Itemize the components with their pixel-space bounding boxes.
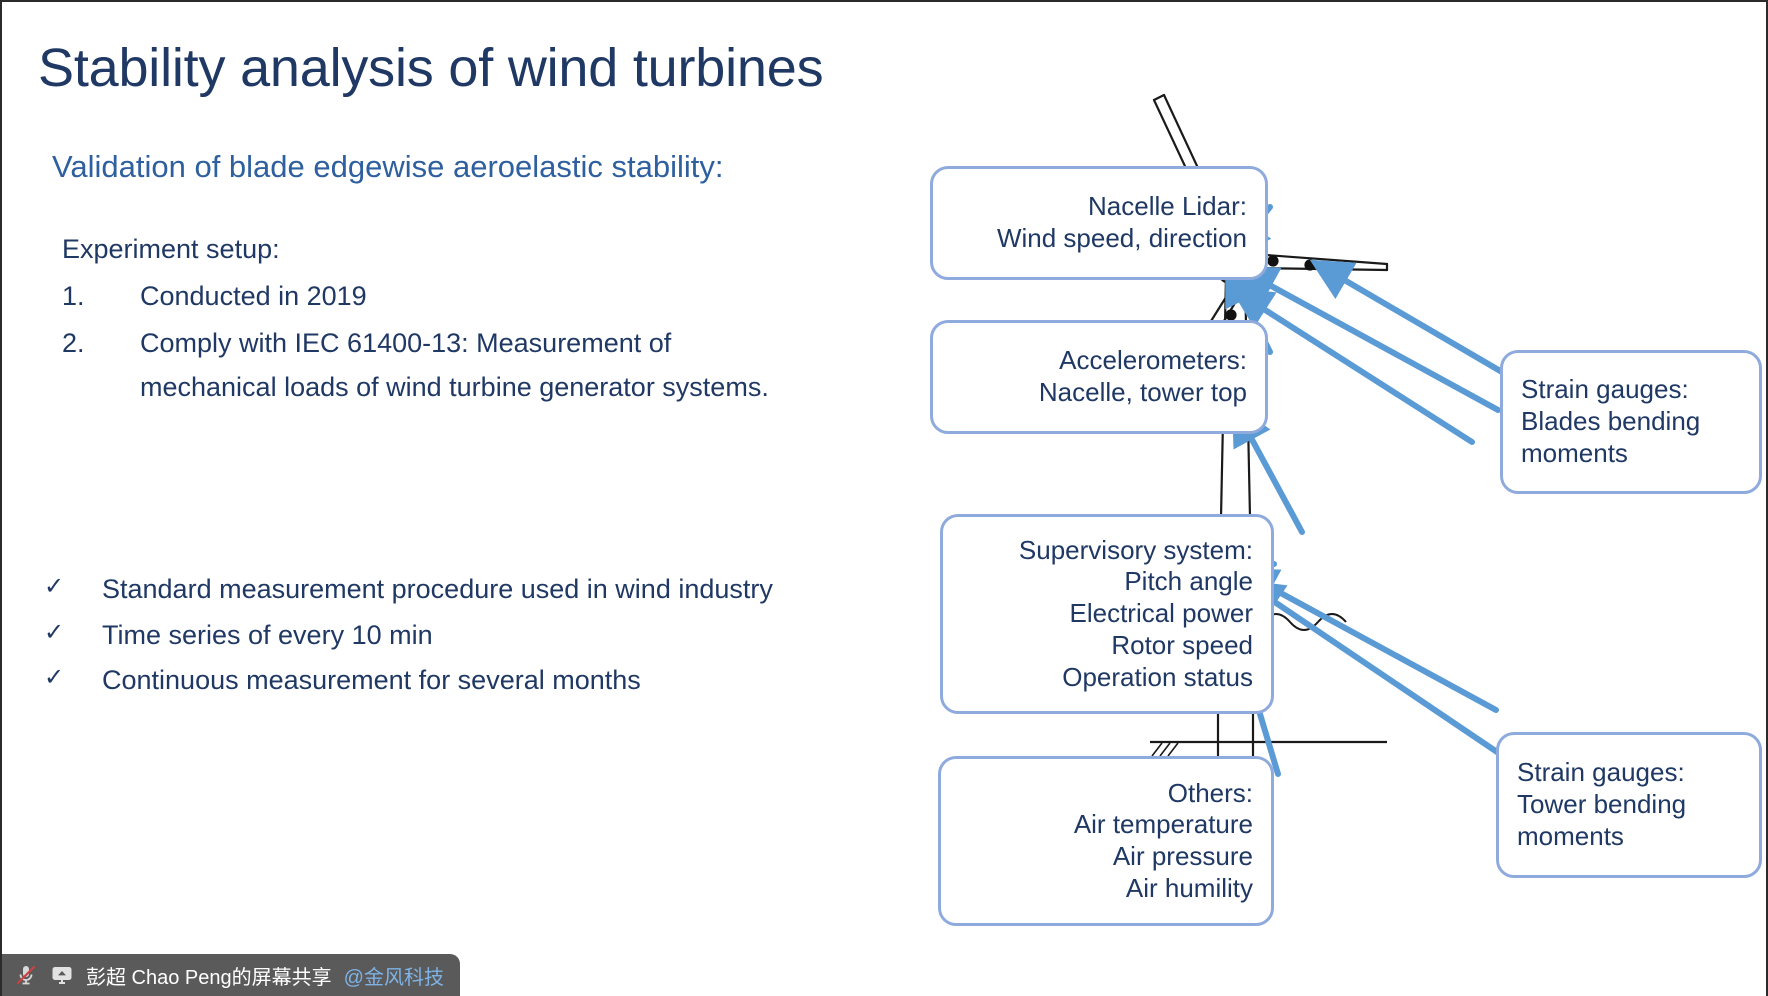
- share-owner-label: 彭超 Chao Peng的屏幕共享: [86, 961, 332, 990]
- callout-line: Blades bending: [1521, 406, 1700, 438]
- list-item: ✓ Continuous measurement for several mon…: [44, 658, 804, 703]
- microphone-muted-icon[interactable]: [14, 963, 38, 987]
- callout-line: Air temperature: [1074, 809, 1253, 841]
- list-item-number: 2.: [62, 321, 140, 366]
- callout-line: Air pressure: [1113, 841, 1253, 873]
- callout-line: moments: [1521, 438, 1628, 470]
- callout-line: Rotor speed: [1111, 630, 1253, 662]
- list-item-label: Conducted in 2019: [140, 274, 802, 319]
- callout-nacelle-lidar: Nacelle Lidar: Wind speed, direction: [930, 166, 1268, 280]
- experiment-setup-heading: Experiment setup:: [62, 227, 280, 272]
- list-item-label: Continuous measurement for several month…: [102, 658, 804, 703]
- list-item-label: Standard measurement procedure used in w…: [102, 567, 804, 612]
- callout-line: Wind speed, direction: [997, 223, 1247, 255]
- callout-line: Air humility: [1126, 873, 1253, 905]
- list-item: ✓ Standard measurement procedure used in…: [44, 567, 804, 612]
- callout-line: Strain gauges:: [1521, 374, 1689, 406]
- presentation-slide: Stability analysis of wind turbines Vali…: [0, 0, 1768, 996]
- callout-line: Pitch angle: [1124, 566, 1253, 598]
- callout-line: Nacelle Lidar:: [1088, 191, 1247, 223]
- list-item-label: Time series of every 10 min: [102, 613, 804, 658]
- conclusion-check-list: ✓ Standard measurement procedure used in…: [44, 567, 804, 704]
- callout-line: Accelerometers:: [1059, 345, 1247, 377]
- list-item: 2. Comply with IEC 61400-13: Measurement…: [62, 321, 802, 410]
- screen-share-status-bar[interactable]: 彭超 Chao Peng的屏幕共享 @金风科技: [2, 954, 460, 996]
- page-title: Stability analysis of wind turbines: [38, 38, 823, 98]
- callout-line: Tower bending: [1517, 789, 1686, 821]
- callout-line: Strain gauges:: [1517, 757, 1685, 789]
- share-owner-handle: @金风科技: [344, 961, 444, 990]
- callout-accelerometers: Accelerometers: Nacelle, tower top: [930, 320, 1268, 434]
- seabed-hatching: [1152, 743, 1178, 756]
- check-icon: ✓: [44, 613, 102, 654]
- check-icon: ✓: [44, 658, 102, 699]
- check-icon: ✓: [44, 567, 102, 608]
- callout-line: Supervisory system:: [1019, 535, 1253, 567]
- list-item: 1. Conducted in 2019: [62, 274, 802, 319]
- slide-subtitle: Validation of blade edgewise aeroelastic…: [52, 148, 724, 185]
- callout-line: Operation status: [1062, 662, 1253, 694]
- callout-line: Nacelle, tower top: [1039, 377, 1247, 409]
- list-item: ✓ Time series of every 10 min: [44, 613, 804, 658]
- callout-line: Electrical power: [1069, 598, 1253, 630]
- callout-tower-strain-gauges: Strain gauges: Tower bending moments: [1496, 732, 1762, 878]
- callout-blade-strain-gauges: Strain gauges: Blades bending moments: [1500, 350, 1762, 494]
- list-item-number: 1.: [62, 274, 140, 319]
- experiment-setup-list: 1. Conducted in 2019 2. Comply with IEC …: [62, 274, 802, 412]
- callout-line: moments: [1517, 821, 1624, 853]
- callout-line: Others:: [1168, 778, 1253, 810]
- list-item-label: Comply with IEC 61400-13: Measurement of…: [140, 321, 802, 410]
- callout-others: Others: Air temperature Air pressure Air…: [938, 756, 1274, 926]
- callout-supervisory-system: Supervisory system: Pitch angle Electric…: [940, 514, 1274, 714]
- screen-share-icon[interactable]: [50, 963, 74, 987]
